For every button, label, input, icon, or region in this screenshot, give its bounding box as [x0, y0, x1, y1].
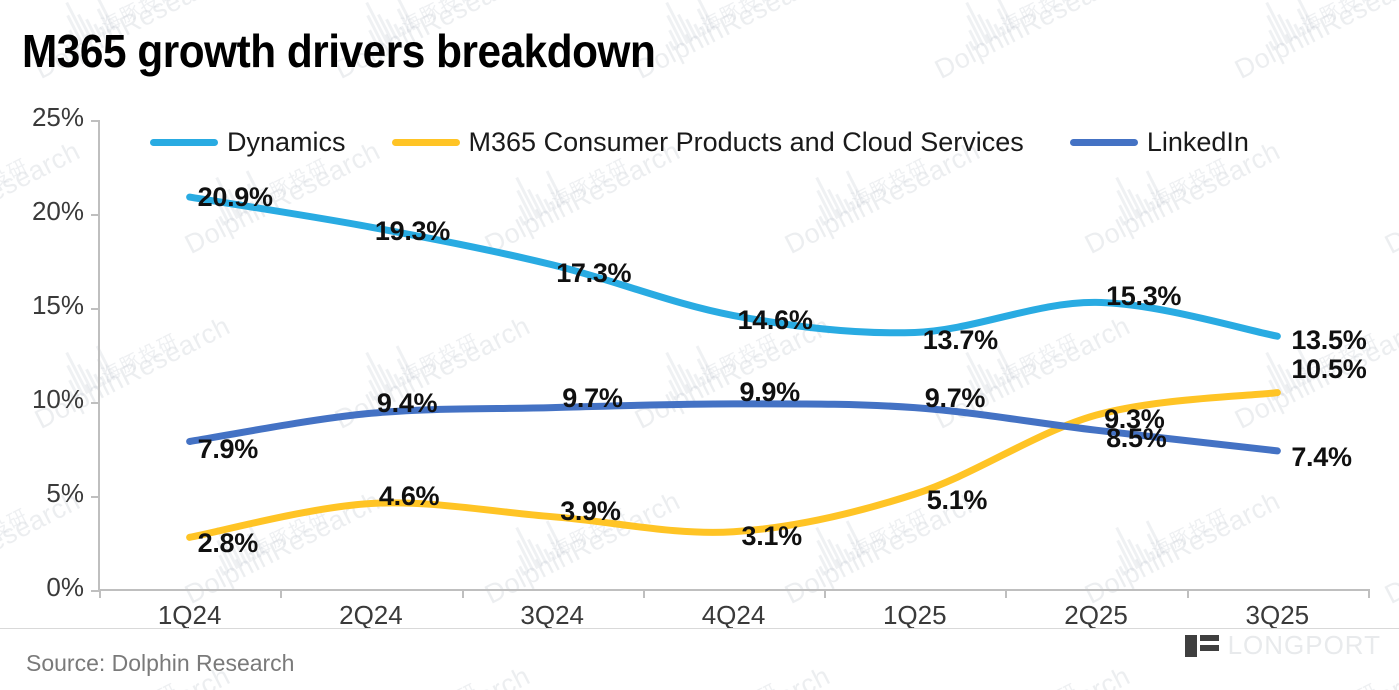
chart-page: 海豚投研DolphinResearch海豚投研DolphinResearch海豚… — [0, 0, 1399, 690]
data-label: 14.6% — [738, 305, 813, 336]
chart-legend: Dynamics M365 Consumer Products and Clou… — [150, 122, 1295, 162]
legend-item-m365-consumer[interactable]: M365 Consumer Products and Cloud Service… — [392, 127, 1024, 158]
data-label: 20.9% — [198, 182, 273, 213]
data-label: 9.9% — [740, 377, 800, 408]
data-label: 7.9% — [198, 434, 258, 465]
data-label: 9.7% — [562, 383, 622, 414]
data-label: 17.3% — [556, 258, 631, 289]
footer-divider — [0, 628, 1399, 629]
data-label: 3.1% — [742, 521, 802, 552]
legend-swatch-dynamics — [150, 139, 218, 146]
data-label: 5.1% — [927, 485, 987, 516]
brand-logo: LONGPORT — [1185, 630, 1381, 661]
data-label: 4.6% — [379, 481, 439, 512]
page-title: M365 growth drivers breakdown — [22, 24, 655, 78]
source-note: Source: Dolphin Research — [26, 650, 294, 677]
legend-swatch-m365-consumer — [392, 139, 460, 146]
data-label: 10.5% — [1291, 354, 1366, 385]
legend-item-dynamics[interactable]: Dynamics — [150, 127, 346, 158]
data-label: 8.5% — [1106, 423, 1166, 454]
legend-label-linkedin: LinkedIn — [1147, 127, 1249, 158]
data-label: 3.9% — [560, 496, 620, 527]
legend-swatch-linkedin — [1070, 139, 1138, 146]
data-label: 9.7% — [925, 383, 985, 414]
longport-logo-icon — [1185, 633, 1219, 659]
data-label: 13.5% — [1291, 325, 1366, 356]
legend-label-m365-consumer: M365 Consumer Products and Cloud Service… — [469, 127, 1024, 158]
legend-item-linkedin[interactable]: LinkedIn — [1070, 127, 1249, 158]
data-label: 13.7% — [923, 325, 998, 356]
chart-lines — [0, 0, 1399, 690]
data-label: 9.4% — [377, 388, 437, 419]
data-label: 19.3% — [375, 216, 450, 247]
data-label: 2.8% — [198, 528, 258, 559]
series-line-dynamics — [190, 197, 1278, 336]
brand-wordmark: LONGPORT — [1228, 630, 1381, 661]
data-label: 7.4% — [1291, 442, 1351, 473]
legend-label-dynamics: Dynamics — [227, 127, 346, 158]
data-label: 15.3% — [1106, 281, 1181, 312]
